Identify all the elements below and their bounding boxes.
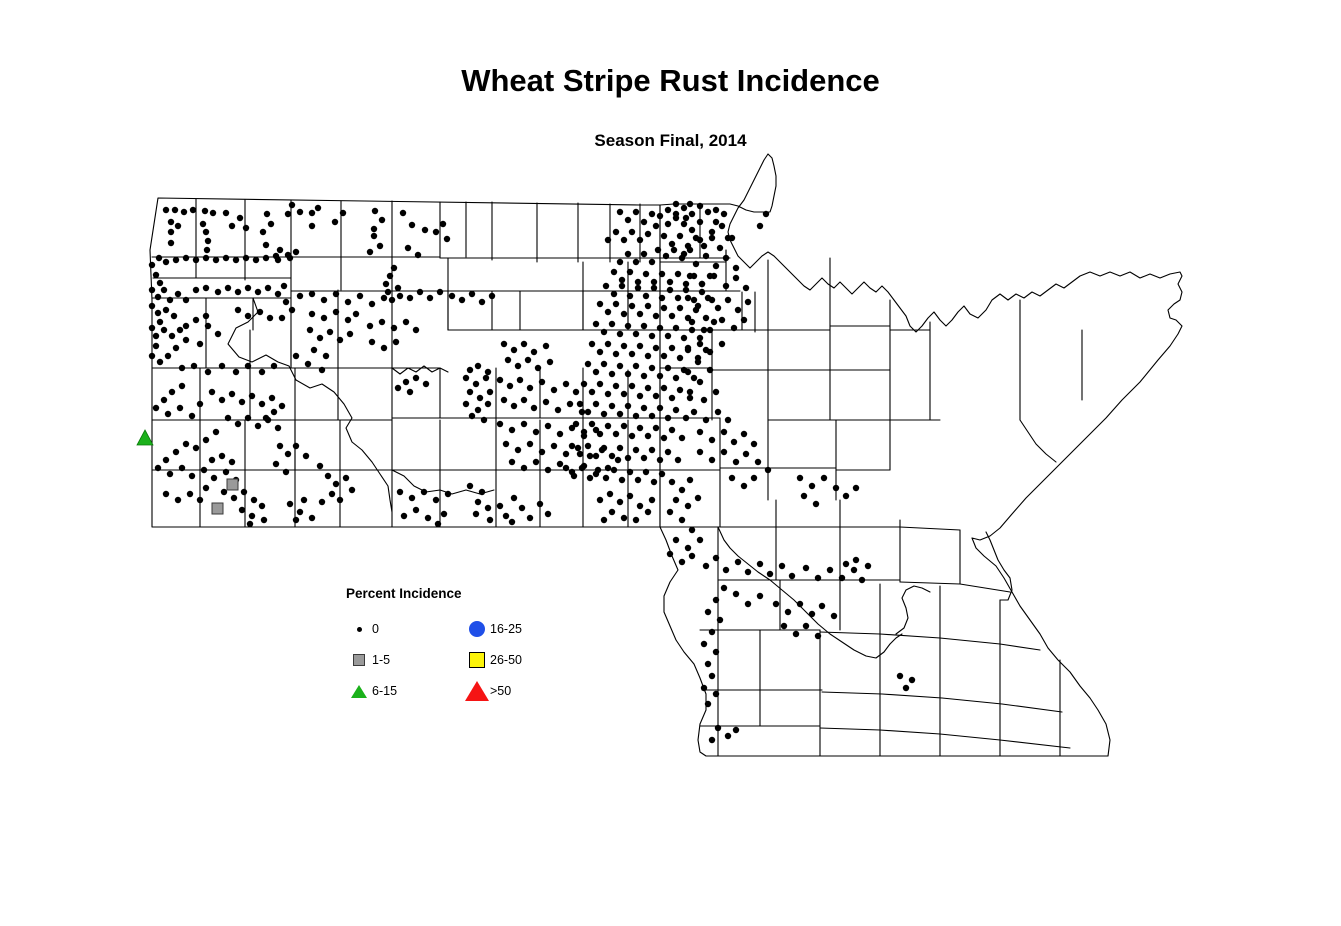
legend-item-6-15[interactable]: 6-15 (346, 682, 397, 700)
legend-label-over-50: >50 (490, 684, 511, 698)
legend-item-over-50[interactable]: >50 (464, 682, 511, 700)
legend-item-1-5[interactable]: 1-5 (346, 651, 390, 669)
legend-label-26-50: 26-50 (490, 653, 522, 667)
legend-label-6-15: 6-15 (372, 684, 397, 698)
red-triangle-icon (464, 681, 490, 701)
map-page: Wheat Stripe Rust Incidence Season Final… (0, 0, 1341, 926)
legend-label-16-25: 16-25 (490, 622, 522, 636)
gray-square-icon (346, 654, 372, 666)
small-black-dot-icon (346, 627, 372, 632)
blue-circle-icon (464, 621, 490, 637)
incidence-points-6-15 (137, 430, 153, 445)
legend-label-1-5: 1-5 (372, 653, 390, 667)
legend-item-16-25[interactable]: 16-25 (464, 620, 522, 638)
legend-title: Percent Incidence (346, 586, 574, 602)
map-legend: Percent Incidence 0 1-5 6-15 16-25 26-50 (344, 586, 574, 706)
choropleth-map-svg (0, 0, 1341, 926)
yellow-square-icon (464, 652, 490, 668)
legend-item-0[interactable]: 0 (346, 620, 379, 638)
legend-item-26-50[interactable]: 26-50 (464, 651, 522, 669)
green-triangle-icon (346, 685, 372, 698)
legend-label-0: 0 (372, 622, 379, 636)
map-canvas (0, 0, 1341, 926)
